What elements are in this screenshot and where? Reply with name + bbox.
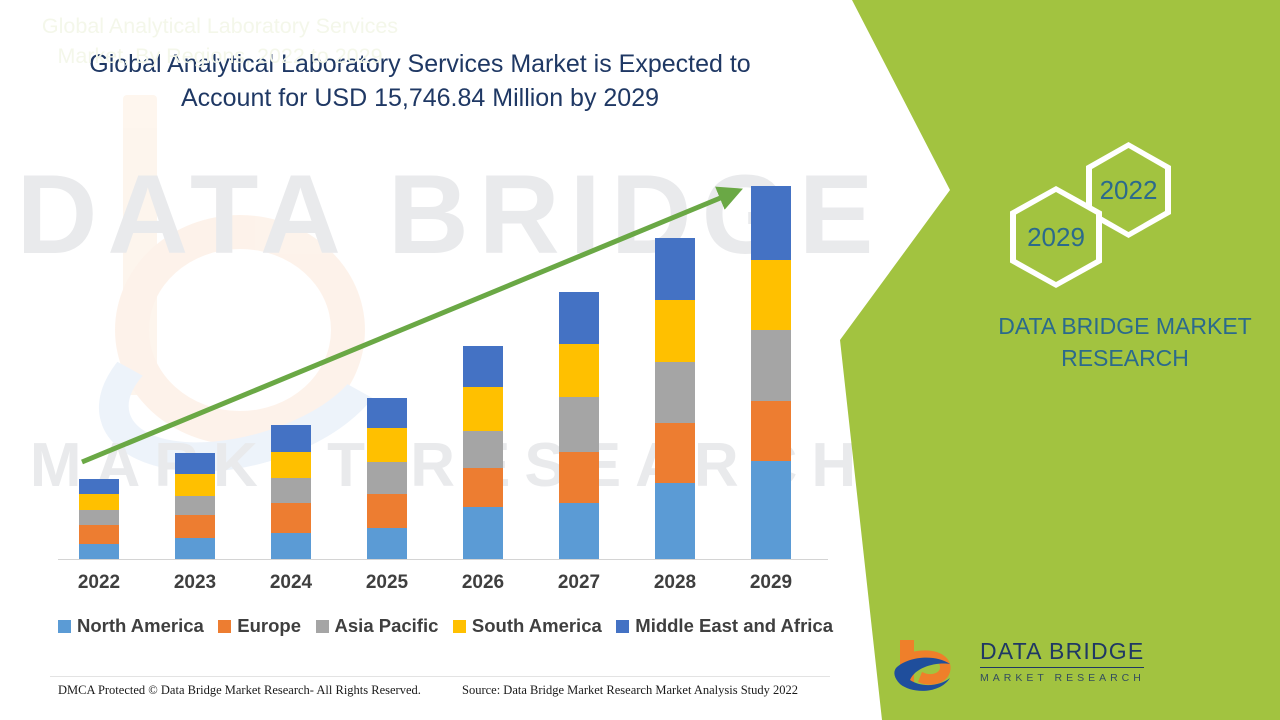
- bar-2028: [655, 238, 695, 559]
- x-axis-labels: 20222023202420252026202720282029: [58, 572, 828, 600]
- legend-swatch-icon: [453, 620, 466, 633]
- legend-label: Middle East and Africa: [635, 615, 833, 637]
- legend-label: Europe: [237, 615, 301, 637]
- legend-label: South America: [472, 615, 602, 637]
- bar-segment: [655, 238, 695, 300]
- hexagon-badge-end-label: 2029: [1027, 222, 1085, 253]
- bar-2026: [463, 346, 503, 559]
- bar-segment: [271, 452, 311, 478]
- bar-segment: [751, 186, 791, 260]
- bar-2025: [367, 398, 407, 559]
- bar-segment: [79, 510, 119, 525]
- x-axis-label-2026: 2026: [443, 572, 523, 594]
- bar-segment: [655, 300, 695, 362]
- bar-segment: [559, 292, 599, 344]
- bar-segment: [175, 538, 215, 559]
- bar-segment: [367, 398, 407, 428]
- legend-item-south-america[interactable]: South America: [453, 615, 602, 637]
- x-axis-label-2022: 2022: [59, 572, 139, 594]
- legend-swatch-icon: [616, 620, 629, 633]
- legend-swatch-icon: [58, 620, 71, 633]
- bar-segment: [751, 330, 791, 401]
- bar-segment: [559, 397, 599, 452]
- bar-segment: [79, 544, 119, 559]
- bar-segment: [271, 478, 311, 503]
- bar-segment: [559, 344, 599, 397]
- bar-2023: [175, 453, 215, 559]
- hexagon-badge-end: 2029: [1010, 186, 1102, 288]
- chart-plot-area: [58, 160, 828, 560]
- legend-item-europe[interactable]: Europe: [218, 615, 301, 637]
- x-axis-label-2023: 2023: [155, 572, 235, 594]
- bar-segment: [175, 496, 215, 515]
- x-axis-label-2028: 2028: [635, 572, 715, 594]
- bar-segment: [175, 515, 215, 538]
- bar-segment: [463, 507, 503, 559]
- bar-2024: [271, 425, 311, 559]
- bar-segment: [751, 461, 791, 559]
- brand-name: DATA BRIDGE MARKET RESEARCH: [975, 310, 1275, 374]
- bar-2029: [751, 186, 791, 559]
- bar-segment: [559, 503, 599, 559]
- bar-segment: [271, 425, 311, 452]
- bar-segment: [751, 260, 791, 330]
- x-axis-label-2029: 2029: [731, 572, 811, 594]
- bar-segment: [463, 387, 503, 431]
- bar-segment: [463, 346, 503, 387]
- legend-label: North America: [77, 615, 204, 637]
- databridge-logo-icon: [892, 636, 968, 698]
- legend-item-asia-pacific[interactable]: Asia Pacific: [316, 615, 439, 637]
- chart-panel: DATA BRIDGE MARKET RESEARCH Global Analy…: [0, 0, 900, 720]
- legend-item-north-america[interactable]: North America: [58, 615, 204, 637]
- legend-item-middle-east-and-africa[interactable]: Middle East and Africa: [616, 615, 833, 637]
- bar-segment: [559, 452, 599, 503]
- bar-2027: [559, 292, 599, 559]
- logo-subtitle: MARKET RESEARCH: [980, 672, 1190, 684]
- logo-wordmark: DATA BRIDGE MARKET RESEARCH: [980, 638, 1190, 684]
- footer-dmca-text: DMCA Protected © Data Bridge Market Rese…: [58, 683, 421, 698]
- footer-divider: [50, 676, 830, 677]
- bar-segment: [175, 453, 215, 474]
- bar-segment: [655, 483, 695, 559]
- panel-heading: Global Analytical Laboratory Services Ma…: [10, 12, 430, 71]
- x-axis-label-2024: 2024: [251, 572, 331, 594]
- x-axis-label-2025: 2025: [347, 572, 427, 594]
- bar-segment: [655, 362, 695, 423]
- bar-segment: [79, 479, 119, 494]
- bar-segment: [367, 462, 407, 494]
- footer-source-text: Source: Data Bridge Market Research Mark…: [462, 683, 798, 698]
- bar-segment: [463, 431, 503, 468]
- bar-segment: [367, 494, 407, 528]
- hexagon-badge-start-label: 2022: [1100, 175, 1158, 206]
- bar-segment: [367, 528, 407, 559]
- bar-segment: [79, 525, 119, 544]
- bar-2022: [79, 479, 119, 559]
- company-logo: DATA BRIDGE MARKET RESEARCH: [892, 636, 1192, 698]
- bar-segment: [79, 494, 119, 510]
- bar-segment: [367, 428, 407, 462]
- bar-segment: [463, 468, 503, 507]
- bar-segment: [271, 533, 311, 559]
- chart-legend: North AmericaEuropeAsia PacificSouth Ame…: [58, 615, 833, 637]
- legend-swatch-icon: [218, 620, 231, 633]
- bar-segment: [175, 474, 215, 496]
- logo-title: DATA BRIDGE: [980, 638, 1144, 668]
- bar-segment: [655, 423, 695, 483]
- legend-swatch-icon: [316, 620, 329, 633]
- legend-label: Asia Pacific: [335, 615, 439, 637]
- x-axis-line: [58, 559, 828, 560]
- bar-segment: [751, 401, 791, 461]
- bar-segment: [271, 503, 311, 533]
- x-axis-label-2027: 2027: [539, 572, 619, 594]
